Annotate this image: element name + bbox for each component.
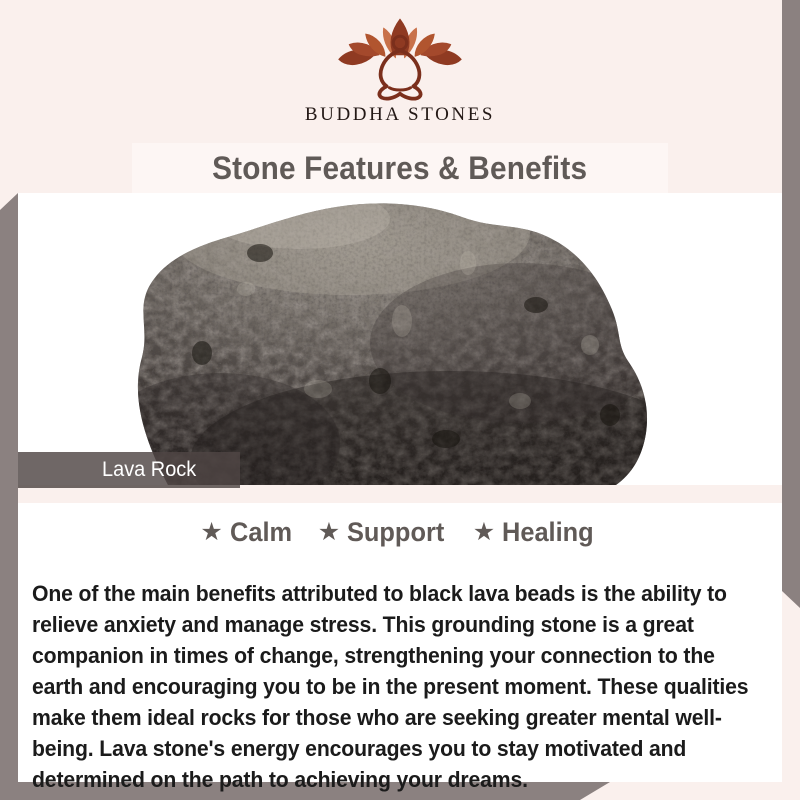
star-icon: ★ xyxy=(200,520,222,545)
brand-name: BUDDHA STONES xyxy=(305,105,495,124)
benefit-label: Healing xyxy=(502,519,594,546)
page-title: Stone Features & Benefits xyxy=(212,150,587,187)
content-panel: ★ Calm ★ Support ★ Healing One of the ma… xyxy=(18,503,782,782)
benefit-item-calm: ★ Calm xyxy=(200,519,295,546)
poster-root: BUDDHA STONES Stone Features & Benefits xyxy=(0,0,800,800)
photo-caption-label: Lava Rock xyxy=(102,458,196,482)
benefits-row: ★ Calm ★ Support ★ Healing xyxy=(18,519,782,546)
star-icon: ★ xyxy=(318,520,340,545)
lava-rock-photo xyxy=(50,193,750,485)
title-banner: Stone Features & Benefits xyxy=(132,143,668,193)
lotus-meditation-figure-icon xyxy=(325,16,475,102)
frame-band-left xyxy=(0,193,18,800)
brand-logo: BUDDHA STONES xyxy=(305,16,495,124)
benefit-label: Calm xyxy=(230,519,292,546)
frame-band-right xyxy=(782,0,800,608)
benefits-description: One of the main benefits attributed to b… xyxy=(32,578,750,795)
star-icon: ★ xyxy=(473,520,495,545)
brand-header: BUDDHA STONES xyxy=(18,0,782,144)
benefit-item-support: ★ Support xyxy=(318,519,451,546)
benefit-label: Support xyxy=(347,519,444,546)
photo-caption-bar: Lava Rock xyxy=(18,452,240,488)
stone-photo-panel xyxy=(18,193,782,485)
benefit-item-healing: ★ Healing xyxy=(473,519,600,546)
